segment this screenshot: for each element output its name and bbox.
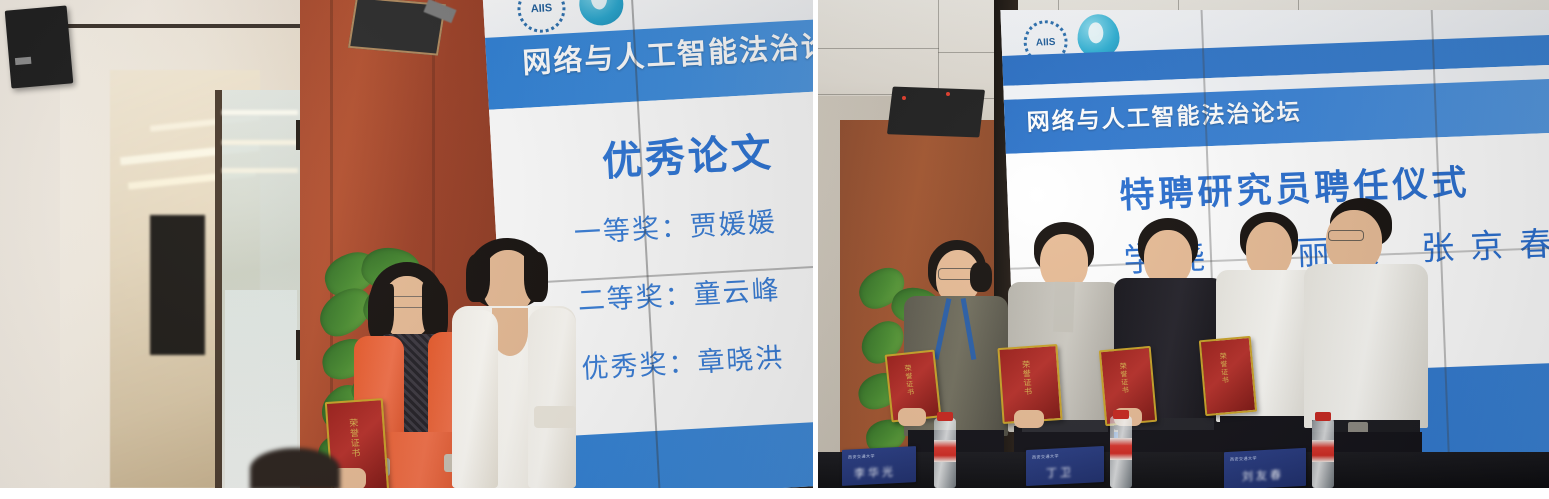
name-placard: 西安交通大学 刘友春: [1224, 448, 1306, 488]
corridor-cabinet: [150, 215, 205, 355]
certificate-text: 荣誉证书: [1118, 362, 1131, 395]
aiis-logo-text: AIIS: [530, 2, 552, 15]
hand: [1014, 410, 1044, 428]
placard-logo-text: 西安交通大学: [1032, 453, 1059, 460]
bottle-label: [1110, 438, 1132, 460]
name-placard: 西安交通大学 丁卫: [1026, 446, 1104, 486]
glass-reflection: [222, 140, 298, 145]
certificate-text: 荣誉证书: [1218, 352, 1231, 385]
audience-head: [250, 448, 340, 488]
aiis-logo-text: AIIS: [1036, 36, 1056, 48]
person-woman-olive-shirt: 荣誉证书: [904, 240, 1014, 488]
head-table: [818, 452, 1549, 488]
name-placard: 西安交通大学 李华光: [842, 446, 916, 486]
bottle-cap: [1113, 410, 1129, 419]
certificate-text: 荣誉证书: [903, 364, 916, 397]
hand: [898, 408, 926, 426]
placard-name: 丁卫: [1046, 464, 1074, 481]
wall-speaker-icon: [5, 5, 74, 88]
speaker-led-indicator: [902, 96, 906, 100]
right-photo: AIIS 网络与人工智能法治论坛 特聘研究员聘任仪式 明 学尧 李丽敏 张京春 …: [818, 0, 1549, 488]
bottle-label: [934, 440, 956, 462]
placard-name: 李华光: [854, 463, 896, 481]
wall-speaker-icon: [887, 87, 985, 138]
person-woman-white-blazer: [452, 238, 577, 488]
certificate-red-folder: 荣誉证书: [1199, 336, 1257, 416]
certificate-text: 荣誉证书: [346, 418, 362, 459]
bottle-label: [1312, 440, 1334, 462]
placard-logo-text: 西安交通大学: [1230, 455, 1257, 462]
placard-logo-text: 西安交通大学: [848, 453, 875, 460]
certificate-text: 荣誉证书: [1020, 360, 1033, 397]
bottle-cap: [1315, 412, 1331, 421]
shirt-collar: [1053, 282, 1075, 333]
rolled-cuff: [534, 406, 576, 428]
left-photo: AIIS 网络与人工智能法治论坛 优秀论文 一等奖：贾媛媛 二等奖：童云峰 优秀…: [0, 0, 813, 488]
speaker-led-indicator: [946, 92, 950, 96]
photo-composite: AIIS 网络与人工智能法治论坛 优秀论文 一等奖：贾媛媛 二等奖：童云峰 优秀…: [0, 0, 1549, 499]
bottle-cap: [937, 412, 953, 421]
placard-name: 刘友春: [1242, 466, 1284, 484]
glass-reflection: [222, 110, 298, 115]
eyeglasses-icon: [1328, 230, 1364, 241]
glass-reflection: [222, 168, 298, 173]
slide-title: 优秀论文: [600, 120, 775, 188]
